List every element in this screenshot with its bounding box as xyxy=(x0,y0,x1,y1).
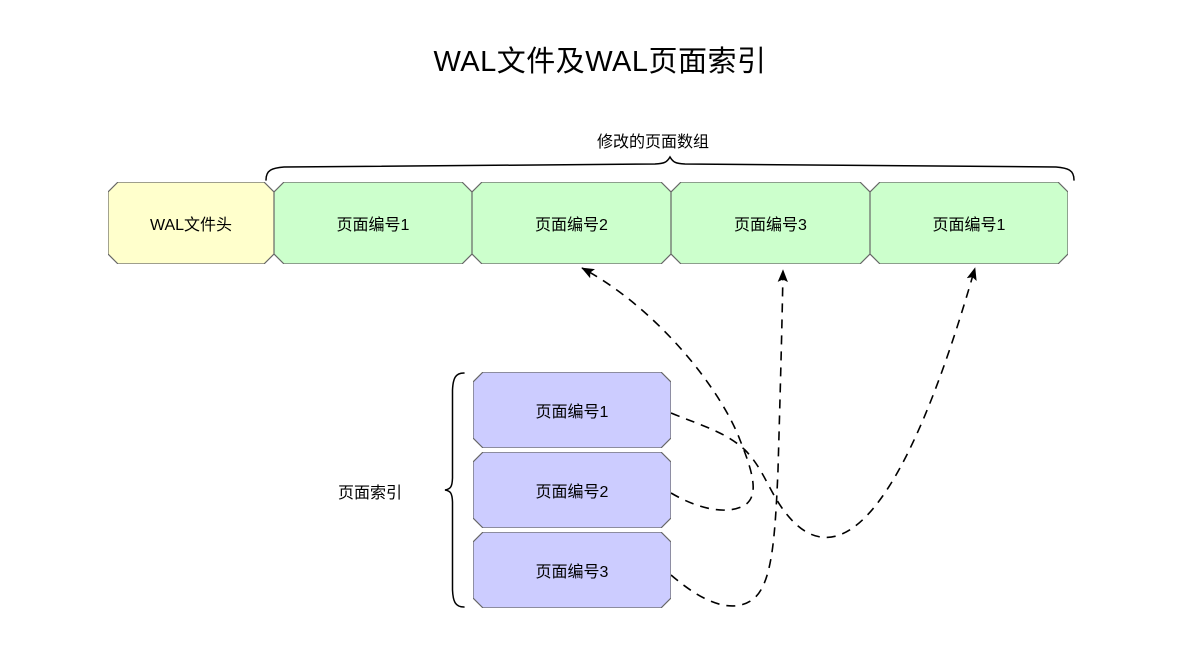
wal-file-header-shape xyxy=(108,182,274,264)
connector-index1-to-frame4 xyxy=(671,268,975,537)
modified-pages-array-label: 修改的页面数组 xyxy=(597,128,709,152)
wal-frame-box-1[interactable]: 页面编号1 xyxy=(274,182,472,264)
page-index-label: 页面索引 xyxy=(338,479,402,503)
page-index-entry-3[interactable]: 页面编号3 xyxy=(473,532,671,608)
page-index-entry-shape-2 xyxy=(473,452,671,528)
wal-frame-shape-2 xyxy=(472,182,671,264)
wal-file-header-box[interactable]: WAL文件头 xyxy=(108,182,274,264)
page-index-entry-shape-1 xyxy=(473,372,671,448)
page-index-entry-2[interactable]: 页面编号2 xyxy=(473,452,671,528)
wal-frame-box-2[interactable]: 页面编号2 xyxy=(472,182,671,264)
page-index-entry-1[interactable]: 页面编号1 xyxy=(473,372,671,448)
page-index-brace xyxy=(445,373,464,607)
wal-frame-shape-4 xyxy=(870,182,1068,264)
wal-frame-box-4[interactable]: 页面编号1 xyxy=(870,182,1068,264)
page-title: WAL文件及WAL页面索引 xyxy=(0,38,1200,80)
modified-pages-array-brace xyxy=(266,157,1074,180)
page-index-entry-shape-3 xyxy=(473,532,671,608)
wal-frame-box-3[interactable]: 页面编号3 xyxy=(671,182,870,264)
diagram-canvas: WAL文件及WAL页面索引 修改的页面数组 页面索引 WAL文件头 页面编号1 … xyxy=(0,0,1200,655)
wal-frame-shape-1 xyxy=(274,182,472,264)
connector-index3-to-frame3 xyxy=(671,270,783,606)
wal-frame-shape-3 xyxy=(671,182,870,264)
